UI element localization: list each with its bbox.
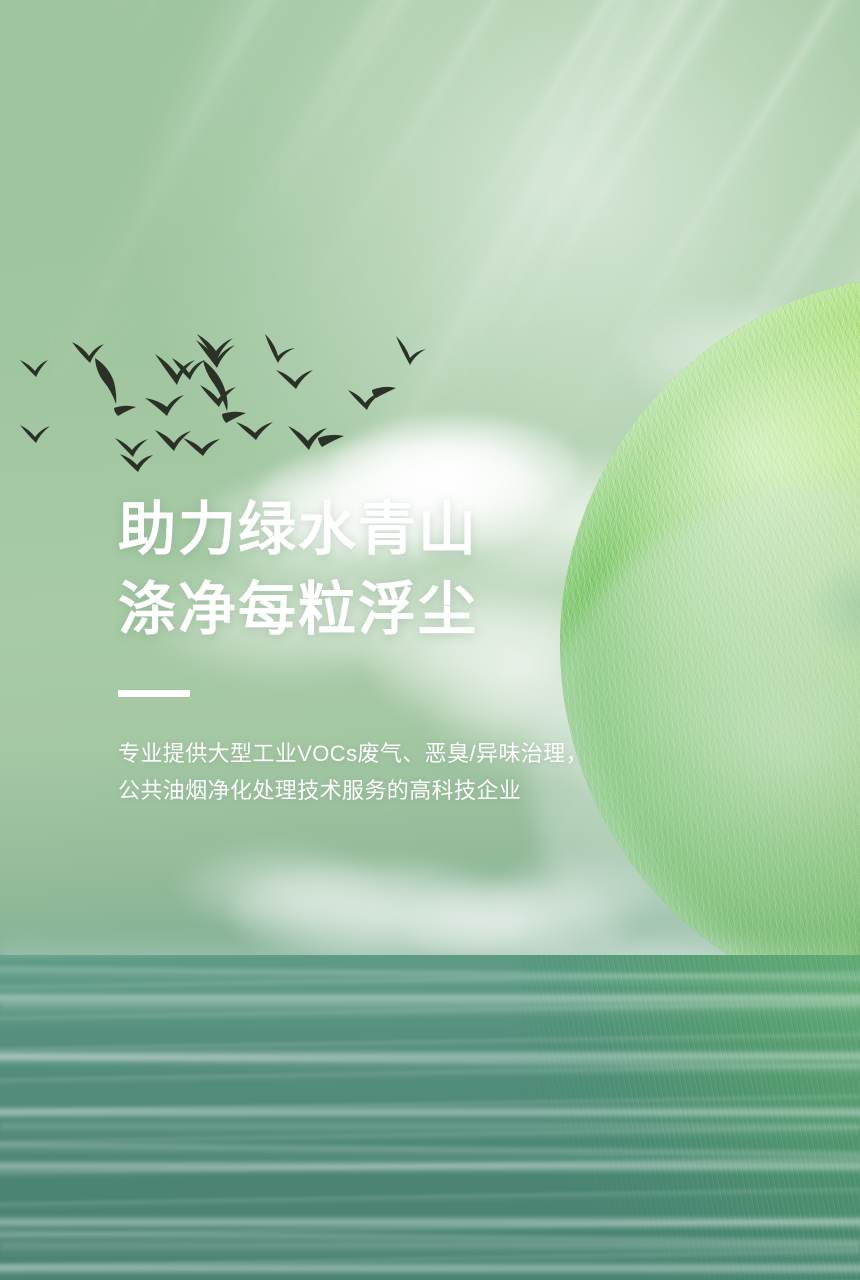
flying-birds-flock (0, 330, 470, 470)
bird-icon (20, 334, 426, 472)
hero-text-block: 助力绿水青山 涤净每粒浮尘 专业提供大型工业VOCs废气、恶臭/异味治理， 公共… (118, 490, 738, 809)
headline-line-1: 助力绿水青山 (118, 490, 738, 570)
decorative-rule (118, 690, 190, 697)
headline-line-2: 涤净每粒浮尘 (118, 570, 738, 650)
subtitle-line-1: 专业提供大型工业VOCs废气、恶臭/异味治理， (118, 735, 738, 772)
water-surface (0, 955, 860, 1280)
hero-banner: 助力绿水青山 涤净每粒浮尘 专业提供大型工业VOCs废气、恶臭/异味治理， 公共… (0, 0, 860, 1280)
subtitle-line-2: 公共油烟净化处理技术服务的高科技企业 (118, 772, 738, 809)
